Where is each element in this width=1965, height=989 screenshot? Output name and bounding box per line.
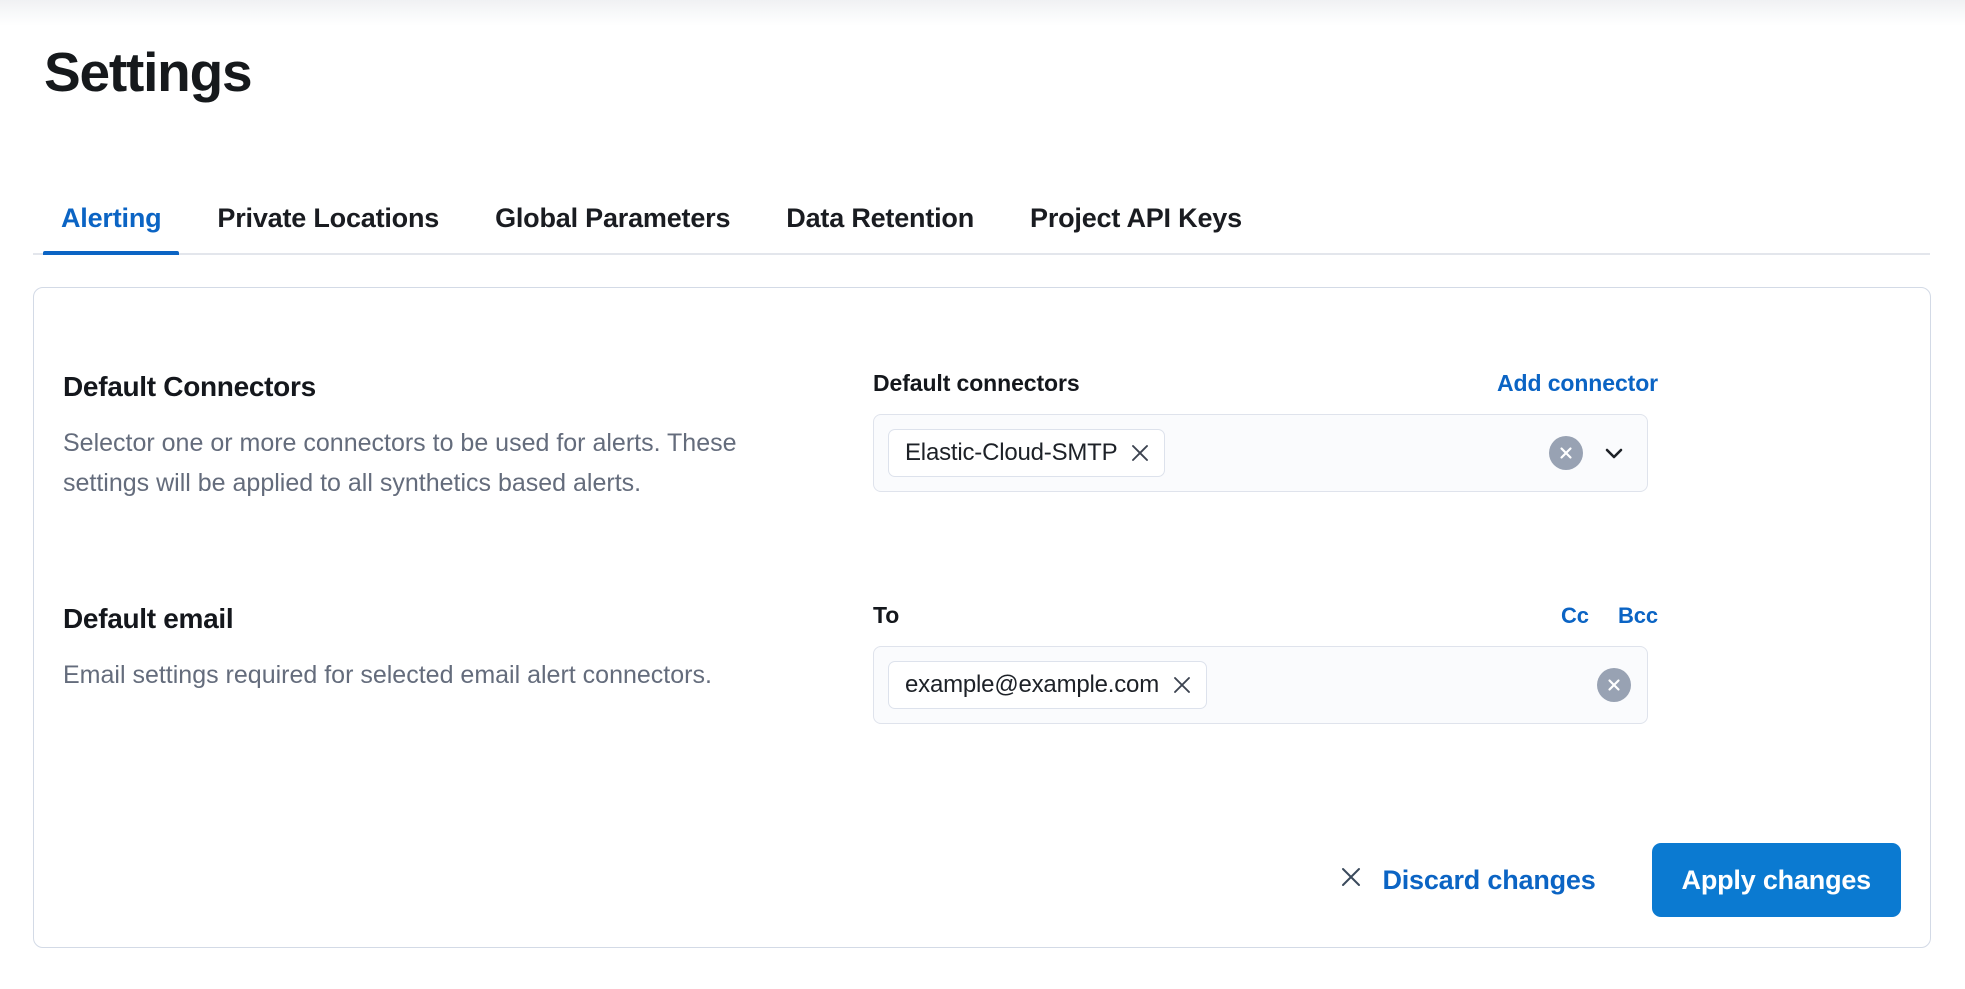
add-connector-link[interactable]: Add connector (1497, 370, 1658, 397)
tab-alerting-label: Alerting (61, 203, 161, 234)
tab-private-locations-label: Private Locations (217, 203, 439, 234)
connector-pill-label: Elastic-Cloud-SMTP (905, 439, 1117, 467)
bcc-link[interactable]: Bcc (1618, 603, 1658, 629)
email-field-actions: Cc Bcc (1561, 603, 1658, 629)
default-email-row: Default email Email settings required fo… (63, 602, 1903, 724)
tab-private-locations[interactable]: Private Locations (189, 183, 467, 253)
default-email-title: Default email (63, 602, 825, 636)
default-connectors-field-label: Default connectors (873, 370, 1080, 397)
top-gradient-strip (0, 0, 1965, 26)
apply-changes-button[interactable]: Apply changes (1652, 843, 1901, 917)
close-icon (1338, 864, 1364, 897)
tab-project-api-keys-label: Project API Keys (1030, 203, 1242, 234)
tab-global-parameters[interactable]: Global Parameters (467, 183, 758, 253)
to-email-combobox[interactable]: example@example.com (873, 646, 1648, 724)
default-connectors-description: Selector one or more connectors to be us… (63, 423, 808, 503)
tab-alerting[interactable]: Alerting (33, 183, 189, 253)
tab-project-api-keys[interactable]: Project API Keys (1002, 183, 1270, 253)
settings-tabs: Alerting Private Locations Global Parame… (33, 183, 1930, 255)
close-icon[interactable] (1129, 442, 1151, 464)
page-title: Settings (44, 39, 251, 105)
default-email-description-column: Default email Email settings required fo… (63, 602, 873, 724)
tab-data-retention[interactable]: Data Retention (758, 183, 1002, 253)
clear-circle-icon[interactable] (1549, 436, 1583, 470)
alerting-settings-panel: Default Connectors Selector one or more … (33, 287, 1931, 948)
default-connectors-field-column: Default connectors Add connector Elastic… (873, 370, 1658, 503)
chevron-down-icon[interactable] (1597, 436, 1631, 470)
email-pill-label: example@example.com (905, 671, 1159, 699)
default-connectors-combobox[interactable]: Elastic-Cloud-SMTP (873, 414, 1648, 492)
discard-changes-button[interactable]: Discard changes (1308, 845, 1625, 915)
tab-data-retention-label: Data Retention (786, 203, 974, 234)
settings-page: Settings Alerting Private Locations Glob… (0, 0, 1965, 989)
to-email-combobox-controls (1597, 668, 1631, 702)
default-email-field-column: To Cc Bcc example@example.com (873, 602, 1658, 724)
tab-global-parameters-label: Global Parameters (495, 203, 730, 234)
default-connectors-field-header: Default connectors Add connector (873, 370, 1658, 400)
default-email-description: Email settings required for selected ema… (63, 655, 808, 695)
to-field-label: To (873, 602, 899, 629)
email-pill[interactable]: example@example.com (888, 661, 1207, 709)
default-connectors-field-actions: Add connector (1497, 370, 1658, 397)
default-connectors-combobox-controls (1549, 436, 1631, 470)
panel-footer-actions: Discard changes Apply changes (1308, 843, 1901, 917)
default-connectors-title: Default Connectors (63, 370, 825, 404)
default-connectors-description-column: Default Connectors Selector one or more … (63, 370, 873, 503)
default-email-field-header: To Cc Bcc (873, 602, 1658, 632)
clear-circle-icon[interactable] (1597, 668, 1631, 702)
default-connectors-row: Default Connectors Selector one or more … (63, 370, 1903, 503)
close-icon[interactable] (1171, 674, 1193, 696)
discard-changes-label: Discard changes (1382, 865, 1595, 896)
cc-link[interactable]: Cc (1561, 603, 1589, 629)
connector-pill[interactable]: Elastic-Cloud-SMTP (888, 429, 1165, 477)
